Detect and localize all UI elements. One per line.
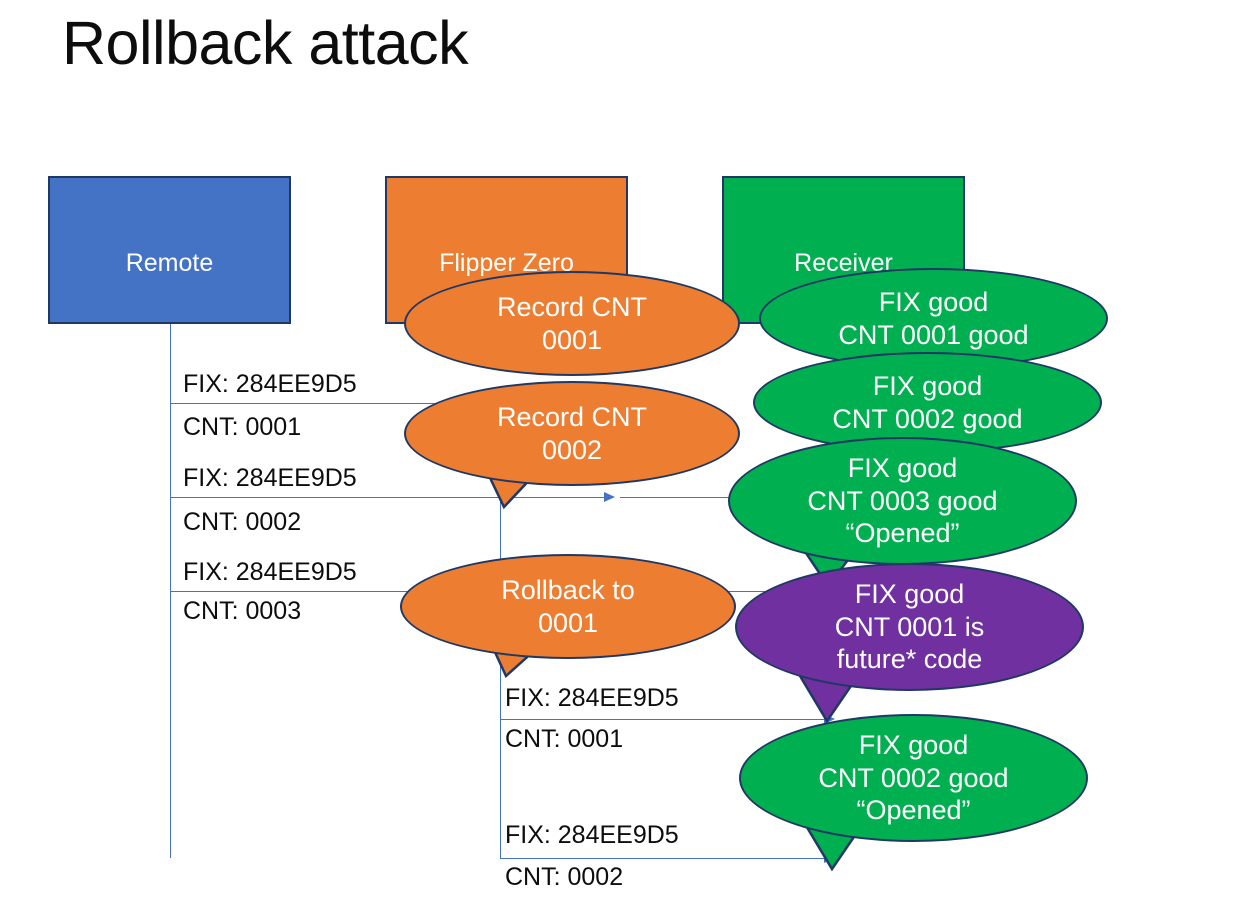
message-label-m5-line2: CNT: 0002 — [505, 864, 623, 890]
message-label-m2-line1: FIX: 284EE9D5 — [183, 465, 357, 491]
message-label-m2-line2: CNT: 0002 — [183, 509, 301, 535]
callout-line: Record CNT — [497, 291, 647, 324]
message-label-m4-line2: CNT: 0001 — [505, 726, 623, 752]
callout-fix-good-cnt-0003-opened[interactable]: FIX good CNT 0003 good “Opened” — [728, 437, 1077, 565]
message-line-m4 — [500, 719, 830, 720]
page-title: Rollback attack — [62, 8, 468, 78]
callout-line: Rollback to — [501, 574, 635, 607]
callout-line: CNT 0001 is — [835, 611, 985, 644]
callout-fix-good-cnt-0002-opened[interactable]: FIX good CNT 0002 good “Opened” — [739, 714, 1088, 842]
message-label-m4-line1: FIX: 284EE9D5 — [505, 685, 679, 711]
callout-line: 0001 — [542, 324, 602, 357]
callout-line: CNT 0003 good — [807, 485, 997, 518]
callout-line: CNT 0001 good — [838, 319, 1028, 352]
callout-line: 0001 — [538, 607, 598, 640]
callout-rollback-to-0001[interactable]: Rollback to 0001 — [400, 554, 736, 659]
message-line-m5 — [500, 858, 830, 859]
callout-line: CNT 0002 good — [818, 762, 1008, 795]
callout-line: “Opened” — [845, 517, 959, 550]
callout-line: Record CNT — [497, 401, 647, 434]
message-arrowhead-m2 — [604, 492, 615, 502]
callout-record-cnt-0001[interactable]: Record CNT 0001 — [404, 271, 740, 376]
callout-line: 0002 — [542, 434, 602, 467]
slide-canvas: Rollback attack Remote Flipper Zero Rece… — [0, 0, 1233, 898]
callout-line: FIX good — [879, 286, 989, 319]
callout-line: FIX good — [873, 370, 983, 403]
message-label-m3-line2: CNT: 0003 — [183, 598, 301, 624]
callout-fix-good-cnt-0001-future-code[interactable]: FIX good CNT 0001 is future* code — [735, 563, 1084, 691]
callout-line: FIX good — [848, 452, 958, 485]
actor-box-remote[interactable]: Remote — [48, 176, 291, 324]
actor-label-remote: Remote — [126, 251, 214, 322]
message-line-m2 — [170, 497, 610, 498]
callout-record-cnt-0002[interactable]: Record CNT 0002 — [404, 381, 740, 486]
callout-line: “Opened” — [856, 794, 970, 827]
message-label-m1-line2: CNT: 0001 — [183, 414, 301, 440]
callout-line: CNT 0002 good — [832, 403, 1022, 436]
message-label-m1-line1: FIX: 284EE9D5 — [183, 371, 357, 397]
message-label-m5-line1: FIX: 284EE9D5 — [505, 822, 679, 848]
callout-line: FIX good — [855, 578, 965, 611]
callout-line: future* code — [837, 643, 983, 676]
message-label-m3-line1: FIX: 284EE9D5 — [183, 559, 357, 585]
callout-line: FIX good — [859, 729, 969, 762]
